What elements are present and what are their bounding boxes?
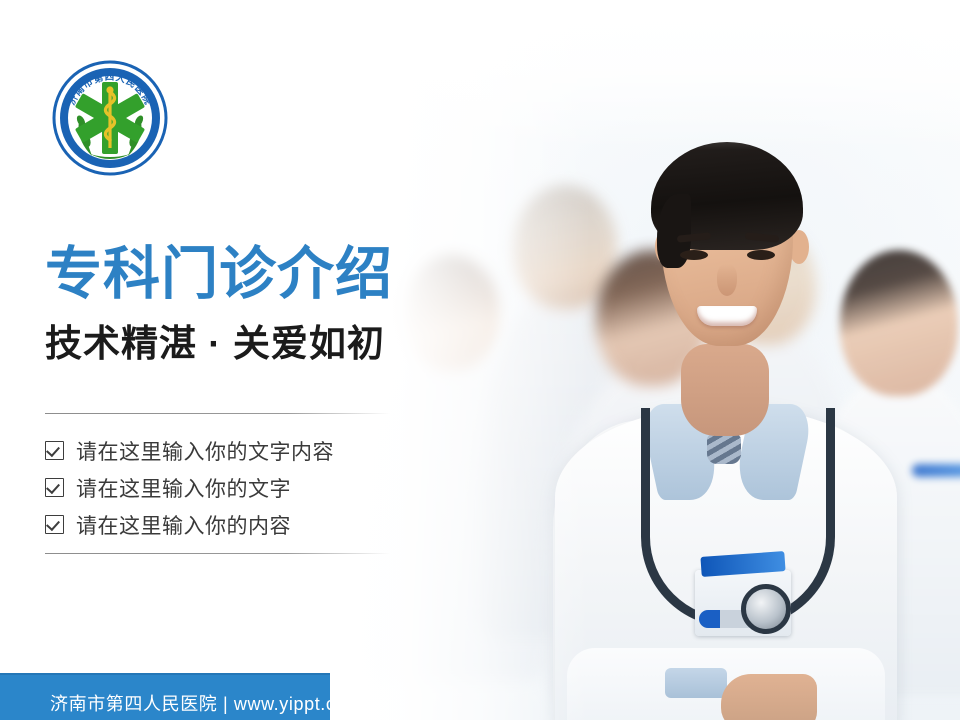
hospital-logo-icon: 济南市第四人民医院 The No.4 Hospital 2946 Jinan S… (50, 58, 170, 178)
id-badge (912, 464, 960, 477)
divider-bottom (45, 553, 390, 554)
main-doctor-male (545, 108, 905, 720)
nose (717, 264, 737, 296)
page-subtitle: 技术精湛 · 关爱如初 (45, 322, 385, 366)
divider-top (45, 413, 390, 414)
shirt-cuff (665, 668, 727, 698)
list-item[interactable]: 请在这里输入你的文字内容 (45, 432, 405, 469)
eye-right (747, 250, 775, 260)
list-item[interactable]: 请在这里输入你的内容 (45, 506, 405, 543)
list-item-label: 请在这里输入你的内容 (76, 510, 291, 540)
checkbox-checked-icon[interactable] (45, 515, 64, 534)
stethoscope-chestpiece (741, 584, 791, 634)
smiling-mouth (697, 306, 757, 326)
checkbox-checked-icon[interactable] (45, 441, 64, 460)
content-panel: 济南市第四人民医院 The No.4 Hospital 2946 Jinan S… (0, 0, 430, 720)
page-title: 专科门诊介绍 (45, 244, 393, 306)
eye-left (680, 250, 708, 260)
hand (721, 674, 817, 720)
bullet-list: 请在这里输入你的文字内容 请在这里输入你的文字 请在这里输入你的内容 (45, 432, 405, 543)
presentation-slide: 济南市第四人民医院 The No.4 Hospital 2946 Jinan S… (0, 0, 960, 720)
checkbox-checked-icon[interactable] (45, 478, 64, 497)
list-item[interactable]: 请在这里输入你的文字 (45, 469, 405, 506)
hair (651, 142, 803, 250)
footer-text: 济南市第四人民医院 | www.yippt.com (50, 690, 362, 716)
list-item-label: 请在这里输入你的文字 (76, 473, 291, 503)
list-item-label: 请在这里输入你的文字内容 (76, 436, 334, 466)
